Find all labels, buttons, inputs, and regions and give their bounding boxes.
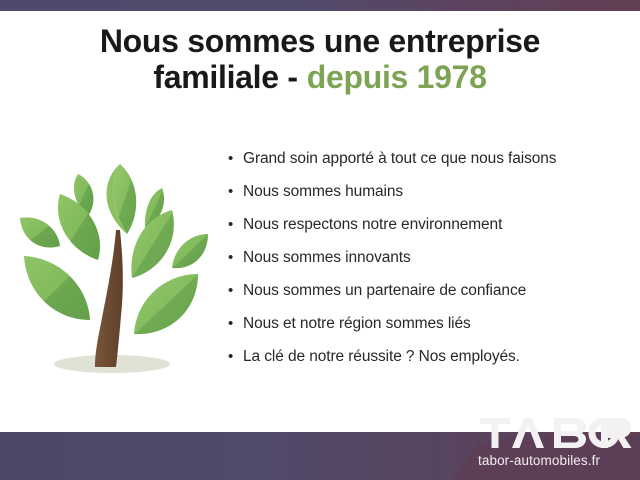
list-item: • Nous sommes un partenaire de confiance xyxy=(228,282,628,315)
bullet-icon: • xyxy=(228,217,243,232)
list-item-label: Nous sommes innovants xyxy=(243,249,411,267)
list-item-label: Grand soin apporté à tout ce que nous fa… xyxy=(243,150,556,168)
bullet-icon: • xyxy=(228,151,243,166)
headline-line-1: Nous sommes une entreprise xyxy=(0,24,640,60)
tree-leaf-far-right xyxy=(172,234,208,268)
page-title: Nous sommes une entreprise familiale -de… xyxy=(0,24,640,96)
list-item-label: La clé de notre réussite ? Nos employés. xyxy=(243,348,520,366)
list-item-label: Nous sommes un partenaire de confiance xyxy=(243,282,526,300)
bullet-icon: • xyxy=(228,349,243,364)
headline-plain-text: familiale - xyxy=(153,59,297,95)
tree-leaf-mid-right xyxy=(131,210,174,278)
list-item: • Nous et notre région sommes liés xyxy=(228,315,628,348)
tree-leaf-far-left xyxy=(20,217,60,247)
tree-leaf-top-center xyxy=(107,164,137,234)
list-item-label: Nous sommes humains xyxy=(243,183,403,201)
list-item: • La clé de notre réussite ? Nos employé… xyxy=(228,348,628,381)
tree-leaf-lower-left xyxy=(24,256,90,320)
headline-line-2: familiale -depuis 1978 xyxy=(0,60,640,96)
brand-logo: tabor-automobiles.fr xyxy=(425,404,640,480)
top-accent-bar xyxy=(0,0,640,11)
tabor-wordmark-icon xyxy=(480,418,632,448)
list-item: • Nous sommes humains xyxy=(228,183,628,216)
list-item: • Nous sommes innovants xyxy=(228,249,628,282)
list-item-label: Nous et notre région sommes liés xyxy=(243,315,471,333)
benefits-list: • Grand soin apporté à tout ce que nous … xyxy=(228,150,628,381)
list-item: • Nous respectons notre environnement xyxy=(228,216,628,249)
list-item-label: Nous respectons notre environnement xyxy=(243,216,502,234)
bullet-icon: • xyxy=(228,283,243,298)
bullet-icon: • xyxy=(228,184,243,199)
bullet-icon: • xyxy=(228,250,243,265)
tree-leaf-lower-right xyxy=(134,274,198,334)
slide-canvas: Nous sommes une entreprise familiale -de… xyxy=(0,0,640,480)
list-item: • Grand soin apporté à tout ce que nous … xyxy=(228,150,628,183)
green-tree-illustration xyxy=(12,152,217,387)
headline-accent-text: depuis 1978 xyxy=(307,59,487,95)
logo-tagline: tabor-automobiles.fr xyxy=(478,453,600,468)
bullet-icon: • xyxy=(228,316,243,331)
